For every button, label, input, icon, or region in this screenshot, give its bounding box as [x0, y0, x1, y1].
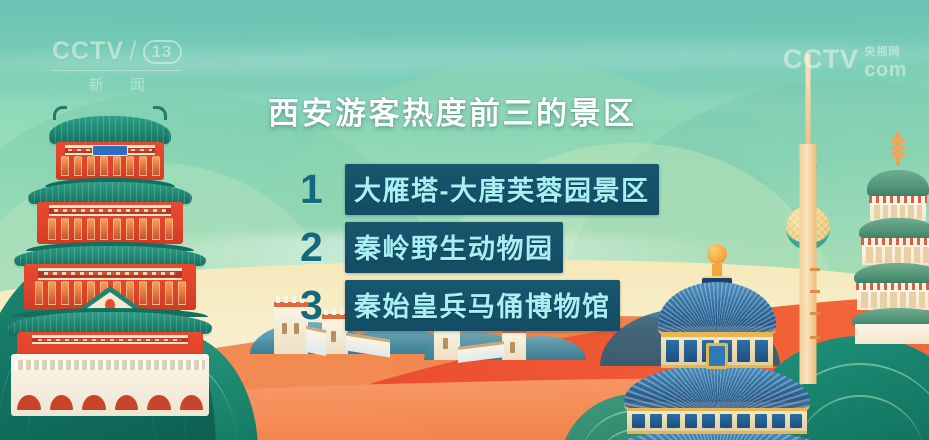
chinese-pagoda-icon	[8, 116, 212, 416]
rank-label: 秦始皇兵马俑博物馆	[345, 280, 620, 331]
broadcast-screenshot: CCTV / 13 新 闻 CCTV 央视网 com 西安游客热度前三的景区 1…	[0, 0, 929, 440]
ranking-list: 1 大雁塔-大唐芙蓉园景区 2 秦岭野生动物园 3 秦始皇兵马俑博物馆	[300, 160, 659, 334]
site-cn-name: 央视网	[864, 46, 900, 58]
tiered-pagoda-icon	[852, 152, 929, 342]
channel-subtitle: 新 闻	[52, 70, 182, 95]
channel-number: 13	[143, 40, 182, 64]
cctv-com-site-logo: CCTV 央视网 com	[783, 44, 907, 82]
rank-number: 3	[300, 285, 345, 326]
pagoda-terrace	[11, 354, 209, 416]
rank-number: 2	[300, 227, 345, 268]
site-tld: com	[864, 59, 907, 81]
cctv-wordmark: CCTV	[52, 37, 124, 66]
cctv13-channel-logo: CCTV / 13 新 闻	[52, 36, 182, 95]
site-wordmark: CCTV	[783, 44, 859, 75]
rank-number: 1	[300, 169, 345, 210]
logo-slash: /	[129, 36, 138, 67]
list-item: 2 秦岭野生动物园	[300, 218, 659, 276]
list-item: 3 秦始皇兵马俑博物馆	[300, 276, 659, 334]
page-title: 西安游客热度前三的景区	[268, 88, 637, 133]
rank-label: 大雁塔-大唐芙蓉园景区	[345, 164, 659, 215]
list-item: 1 大雁塔-大唐芙蓉园景区	[300, 160, 659, 218]
rank-label: 秦岭野生动物园	[345, 222, 563, 273]
